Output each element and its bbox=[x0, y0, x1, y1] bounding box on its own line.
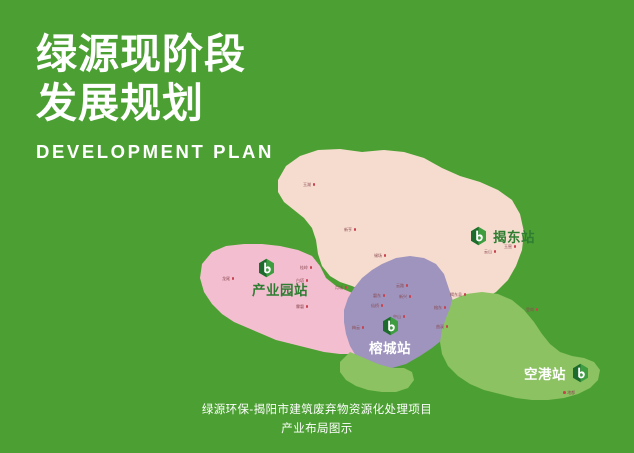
city-label: 云山 bbox=[484, 249, 496, 254]
station-marker-konggang[interactable]: 空港站 bbox=[524, 363, 589, 383]
city-label-text: 梅云 bbox=[352, 325, 360, 330]
city-dot-marker bbox=[362, 326, 365, 329]
city-dot-marker bbox=[345, 286, 348, 289]
city-label: 登岗 bbox=[526, 307, 538, 312]
city-dot-marker bbox=[306, 305, 309, 308]
station-marker-rongcheng[interactable]: 榕城站 bbox=[369, 316, 411, 357]
city-dot-marker bbox=[536, 308, 539, 311]
title-line-2: 发展规划 bbox=[36, 79, 274, 128]
city-label-text: 龙尾 bbox=[222, 276, 230, 281]
city-dot-marker bbox=[310, 266, 313, 269]
city-dot-marker bbox=[313, 183, 316, 186]
city-dot-marker bbox=[354, 228, 357, 231]
caption-line-2: 产业布局图示 bbox=[0, 420, 634, 439]
subtitle-english: DEVELOPMENT PLAN bbox=[36, 141, 274, 163]
city-label: 锡场 bbox=[374, 253, 386, 258]
city-dot-marker bbox=[444, 306, 447, 309]
city-label: 龙尾 bbox=[222, 276, 234, 281]
city-label-text: 新亨 bbox=[344, 227, 352, 232]
city-label-text: 曲溪 bbox=[436, 324, 444, 329]
city-label: 月城 bbox=[335, 285, 347, 290]
caption-line-1: 绿源环保-揭阳市建筑废弃物资源化处理项目 bbox=[0, 401, 634, 420]
city-label-text: 仙桥 bbox=[371, 303, 379, 308]
city-dot-marker bbox=[494, 250, 497, 253]
city-label: 云路 bbox=[396, 283, 408, 288]
city-label-text: 登岗 bbox=[526, 307, 534, 312]
city-label: 曲溪 bbox=[436, 324, 448, 329]
city-dot-marker bbox=[383, 294, 386, 297]
city-dot-marker bbox=[232, 277, 235, 280]
city-label: 榕东 bbox=[434, 305, 446, 310]
title-block: 绿源现阶段 发展规划 DEVELOPMENT PLAN bbox=[36, 30, 274, 163]
city-dot-marker bbox=[384, 254, 387, 257]
city-label: 霖磐 bbox=[296, 304, 308, 309]
city-label-text: 云路 bbox=[396, 283, 404, 288]
caption-block: 绿源环保-揭阳市建筑废弃物资源化处理项目 产业布局图示 bbox=[0, 401, 634, 439]
city-label: 仙桥 bbox=[371, 303, 383, 308]
station-label-konggang: 空港站 bbox=[524, 363, 566, 383]
poster-canvas: 绿源现阶段 发展规划 DEVELOPMENT PLAN 产业园站 揭东站 bbox=[0, 0, 634, 453]
city-label: 梅云 bbox=[352, 325, 364, 330]
city-label-text: 霖磐 bbox=[296, 304, 304, 309]
lvyuan-cube-logo-icon bbox=[382, 316, 399, 336]
station-marker-jiedong[interactable]: 揭东站 bbox=[470, 226, 535, 246]
city-label: 新亨 bbox=[344, 227, 356, 232]
station-label-jiedong: 揭东站 bbox=[493, 226, 535, 246]
city-label-text: 月城 bbox=[335, 285, 343, 290]
city-label-text: 玉湖 bbox=[303, 182, 311, 187]
title-line-1: 绿源现阶段 bbox=[36, 30, 274, 79]
city-label: 磐东 bbox=[373, 293, 385, 298]
city-label-text: 新兴 bbox=[399, 294, 407, 299]
city-label-text: 云山 bbox=[484, 249, 492, 254]
city-dot-marker bbox=[563, 391, 566, 394]
station-label-chanyeyuan: 产业园站 bbox=[252, 279, 308, 299]
city-dot-marker bbox=[406, 284, 409, 287]
map-region-southeast bbox=[440, 292, 600, 400]
city-label-text: 地都 bbox=[567, 390, 575, 395]
city-dot-marker bbox=[409, 295, 412, 298]
station-marker-chanyeyuan[interactable]: 产业园站 bbox=[252, 258, 308, 299]
city-label-text: 榕东 bbox=[434, 305, 442, 310]
city-dot-marker bbox=[446, 325, 449, 328]
lvyuan-cube-logo-icon bbox=[572, 363, 589, 383]
city-dot-marker bbox=[464, 293, 467, 296]
city-label: 揭东县 bbox=[450, 292, 466, 297]
city-label-text: 揭东县 bbox=[450, 292, 462, 297]
city-dot-marker bbox=[381, 304, 384, 307]
lvyuan-cube-logo-icon bbox=[258, 258, 275, 278]
city-label: 地都 bbox=[563, 390, 575, 395]
station-label-rongcheng: 榕城站 bbox=[369, 337, 411, 357]
city-label-text: 磐东 bbox=[373, 293, 381, 298]
lvyuan-cube-logo-icon bbox=[470, 226, 487, 246]
city-label-text: 锡场 bbox=[374, 253, 382, 258]
city-label: 新兴 bbox=[399, 294, 411, 299]
city-label: 玉湖 bbox=[303, 182, 315, 187]
